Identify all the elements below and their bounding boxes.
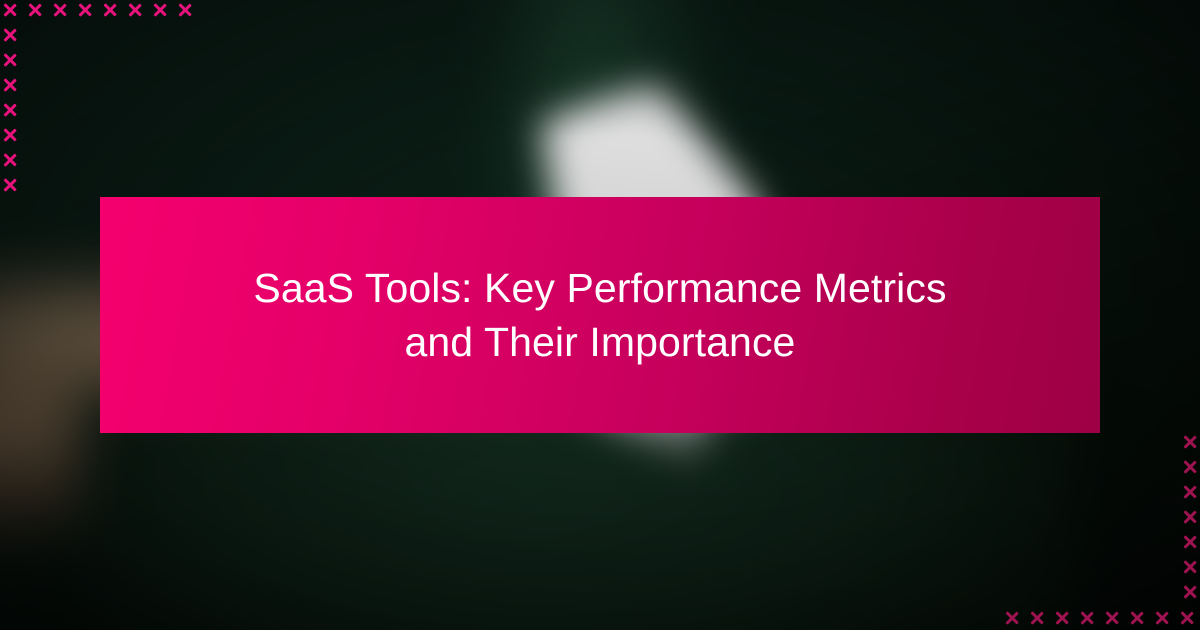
share-card-canvas: SaaS Tools: Key Performance Metrics and …	[0, 0, 1200, 630]
page-title: SaaS Tools: Key Performance Metrics and …	[253, 261, 946, 369]
title-banner: SaaS Tools: Key Performance Metrics and …	[100, 197, 1100, 433]
